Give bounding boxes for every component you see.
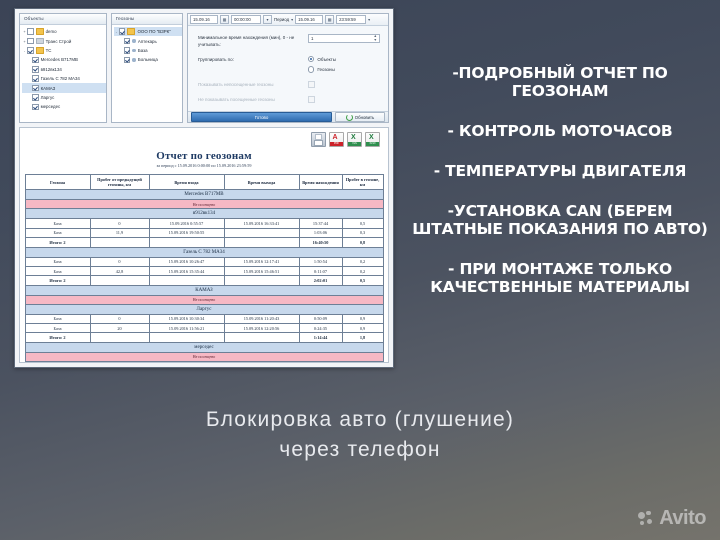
report-table-head: ГеозонаПробег от предыдущей геозоны, кмВ… <box>25 175 383 190</box>
tree-node-label: ООО ПО "ВЗРК" <box>137 29 170 34</box>
cell-6: 0,2 <box>342 257 383 266</box>
tree-node-label: в912вк134 <box>41 67 62 72</box>
pdf-glyph: A <box>333 134 338 141</box>
folder-icon <box>36 28 44 35</box>
geozones-tree-node-3[interactable]: Больница <box>114 55 182 64</box>
period-label: Период <box>274 17 289 22</box>
cell-2: 11,9 <box>90 228 149 237</box>
cell-2: 42,8 <box>90 266 149 275</box>
total-cell-1: Итого: 2 <box>25 333 90 342</box>
not-visited-row: Не посещено <box>25 295 383 304</box>
show-unvisited-row: Показывать непосещенные геозоны <box>198 81 380 88</box>
geozones-tree-node-1[interactable]: Аптекарь <box>114 36 182 45</box>
report-subtitle: за период с 15.09.2016 0:00:00 по 15.09.… <box>20 162 388 168</box>
geozones-panel-header: Геозоны <box>112 14 182 25</box>
objects-tree-node-0[interactable]: +demo <box>22 27 106 36</box>
min-time-stepper[interactable]: 1 ▲▼ <box>308 34 380 43</box>
total-row: Итого: 22:02:010,5 <box>25 276 383 285</box>
checkbox-icon[interactable] <box>32 75 39 82</box>
ready-button[interactable]: Готово <box>191 112 332 122</box>
not-visited-row: Не посещено <box>25 200 383 209</box>
group-name: мерседес <box>25 342 383 352</box>
hide-visited-row: Не показывать посещенные геозоны <box>198 96 380 103</box>
total-cell-5: 2:02:01 <box>299 276 342 285</box>
total-cell-5: 16:40:50 <box>299 238 342 247</box>
column-header-4: Время выхода <box>224 175 299 190</box>
min-time-value: 1 <box>311 36 313 41</box>
bottom-headline-line1: Блокировка авто (глушение) <box>0 405 720 435</box>
time-from-input[interactable]: 00:00:00 <box>231 15 261 24</box>
table-row: База015.09.2016 10:26:4715.09.2016 12:17… <box>25 257 383 266</box>
period-dropdown-icon[interactable]: ▾ <box>291 17 293 22</box>
cell-1: База <box>25 219 90 228</box>
min-time-label: Минимальное время нахождения (мин), 0 - … <box>198 34 308 48</box>
cell-3: 15.09.2016 11:56:21 <box>149 324 224 333</box>
stepper-arrows-icon[interactable]: ▲▼ <box>373 35 377 42</box>
geozone-icon <box>132 49 135 52</box>
checkbox-icon[interactable] <box>27 28 34 35</box>
xls-icon[interactable]: X XLS <box>347 132 362 147</box>
objects-tree-node-2[interactable]: -ТС <box>22 46 106 55</box>
chevron-down-icon[interactable]: ▾ <box>263 15 272 24</box>
bottom-headline-line2: через телефон <box>0 435 720 465</box>
cell-3: 15.09.2016 10:26:47 <box>149 257 224 266</box>
total-cell-2 <box>90 333 149 342</box>
tree-node-label: Транс Строй <box>46 39 72 44</box>
total-cell-4 <box>224 276 299 285</box>
cell-1: База <box>25 257 90 266</box>
radio-objects[interactable]: Объекты <box>308 56 336 62</box>
calendar-icon-2[interactable]: ▦ <box>325 15 334 24</box>
cell-4 <box>224 228 299 237</box>
objects-tree-node-3[interactable]: Mercedes B717MB <box>22 55 106 64</box>
avito-logo-icon <box>638 511 655 527</box>
not-visited-row: Не посещено <box>25 352 383 361</box>
total-cell-4 <box>224 238 299 247</box>
objects-tree[interactable]: +demo+Транс Строй-ТСMercedes B717MBв912в… <box>20 25 106 112</box>
total-row: Итого: 21:14:441,8 <box>25 333 383 342</box>
column-header-5: Время нахождения <box>299 175 342 190</box>
export-toolbar[interactable]: A PDF X XLS X XLSX <box>311 132 380 147</box>
hide-visited-label: Не показывать посещенные геозоны <box>198 96 308 103</box>
printer-icon[interactable] <box>311 132 326 147</box>
cell-2: 20 <box>90 324 149 333</box>
report-header-row: ГеозонаПробег от предыдущей геозоны, кмВ… <box>25 175 383 190</box>
time-to-dropdown-icon[interactable]: ▾ <box>368 17 370 22</box>
radio-geozones-label: Геозоны <box>317 67 334 72</box>
group-name: Газель С 782 МА34 <box>25 247 383 257</box>
total-cell-3 <box>149 238 224 247</box>
cell-1: База <box>25 228 90 237</box>
date-from-input[interactable]: 15.09.16 <box>190 15 218 24</box>
group-by-label: Группировать по: <box>198 56 308 63</box>
tree-node-label: КАМАЗ <box>41 86 56 91</box>
avito-logo-text: Avito <box>659 507 706 530</box>
show-unvisited-label: Показывать непосещенные геозоны <box>198 81 308 88</box>
pdf-label: PDF <box>330 142 343 146</box>
report-area: A PDF X XLS X XLSX Отчет по геозонам за … <box>19 127 389 363</box>
xlsx-label: XLSX <box>366 142 379 146</box>
cell-3: 15.09.2016 0:55:57 <box>149 219 224 228</box>
feature-bullet-1: -Подробный отчет по геозонам <box>404 64 716 100</box>
objects-tree-node-1[interactable]: +Транс Строй <box>22 36 106 45</box>
checkbox-icon[interactable] <box>124 57 131 64</box>
objects-panel[interactable]: Объекты +demo+Транс Строй-ТСMercedes B71… <box>19 13 107 123</box>
group-row: Mercedes B717MB <box>25 190 383 200</box>
cell-5: 1:03:06 <box>299 228 342 237</box>
folder-icon <box>127 28 135 35</box>
tree-node-label: Газель С 782 МА34 <box>41 76 80 81</box>
column-header-1: Геозона <box>25 175 90 190</box>
tree-node-label: Mercedes B717MB <box>41 57 78 62</box>
total-cell-5: 1:14:44 <box>299 333 342 342</box>
total-cell-6: 0,5 <box>342 276 383 285</box>
column-header-3: Время входа <box>149 175 224 190</box>
folder-icon <box>36 47 44 54</box>
cell-4: 15.09.2016 12:20:56 <box>224 324 299 333</box>
feature-bullet-5: - При монтаже только качественные матери… <box>404 260 716 296</box>
cell-5: 15:37:44 <box>299 219 342 228</box>
radio-objects-label: Объекты <box>317 57 336 62</box>
radio-objects-indicator <box>308 56 314 62</box>
tree-node-label: ТС <box>46 48 52 53</box>
group-name: в912вк134 <box>25 209 383 219</box>
time-to-input[interactable]: 23:59:59 <box>336 15 366 24</box>
checkbox-icon[interactable] <box>32 104 39 111</box>
group-name: Ларгус <box>25 304 383 314</box>
group-row: в912вк134 <box>25 209 383 219</box>
cell-5: 0:11:07 <box>299 266 342 275</box>
radio-geozones-indicator <box>308 66 314 72</box>
total-cell-1: Итого: 2 <box>25 238 90 247</box>
group-by-row: Группировать по: Объекты Геозоны <box>198 56 380 73</box>
geozones-tree-node-2[interactable]: База <box>114 46 182 55</box>
cell-1: База <box>25 266 90 275</box>
group-row: КАМАЗ <box>25 285 383 295</box>
column-header-2: Пробег от предыдущей геозоны, км <box>90 175 149 190</box>
table-row: База2015.09.2016 11:56:2115.09.2016 12:2… <box>25 324 383 333</box>
geozones-tree[interactable]: -ООО ПО "ВЗРК"АптекарьБазаБольница <box>112 25 182 65</box>
not-visited-label: Не посещено <box>25 295 383 304</box>
total-cell-3 <box>149 333 224 342</box>
cell-5: 1:50:54 <box>299 257 342 266</box>
refresh-button-label: Обновить <box>355 115 374 120</box>
group-name: Mercedes B717MB <box>25 190 383 200</box>
xls-label: XLS <box>348 142 361 146</box>
group-row: Ларгус <box>25 304 383 314</box>
avito-watermark: Avito <box>638 507 706 530</box>
checkbox-icon[interactable] <box>32 57 39 64</box>
tree-node-label: Больница <box>138 57 158 62</box>
cell-1: База <box>25 314 90 323</box>
cell-1: База <box>25 324 90 333</box>
total-cell-6: 1,8 <box>342 333 383 342</box>
cell-3: 15.09.2016 15:35:44 <box>149 266 224 275</box>
total-cell-6: 0,8 <box>342 238 383 247</box>
group-row: мерседес <box>25 342 383 352</box>
xlsx-icon[interactable]: X XLSX <box>365 132 380 147</box>
table-row: База015.09.2016 0:55:5715.09.2016 16:33:… <box>25 219 383 228</box>
checkbox-icon[interactable] <box>124 47 131 54</box>
cell-3: 15.09.2016 19:50:55 <box>149 228 224 237</box>
report-settings-panel: 15.09.16 ▦ 00:00:00 ▾ Период ▾ 15.09.16 … <box>187 13 389 123</box>
not-visited-label: Не посещено <box>25 200 383 209</box>
feature-bullet-2: - Контроль моточасов <box>404 122 716 140</box>
cell-6: 0,2 <box>342 266 383 275</box>
total-cell-4 <box>224 333 299 342</box>
radio-geozones[interactable]: Геозоны <box>308 66 336 72</box>
group-name: КАМАЗ <box>25 285 383 295</box>
checkbox-icon[interactable] <box>119 28 126 35</box>
checkbox-icon[interactable] <box>124 38 131 45</box>
total-row: Итого: 216:40:500,8 <box>25 238 383 247</box>
group-by-radios[interactable]: Объекты Геозоны <box>308 56 336 73</box>
checkbox-icon[interactable] <box>27 47 34 54</box>
tree-node-label: База <box>138 48 148 53</box>
cell-6: 0,9 <box>342 324 383 333</box>
xlsx-glyph: X <box>369 134 374 142</box>
xls-glyph: X <box>351 134 356 142</box>
cell-3: 15.09.2016 10:30:34 <box>149 314 224 323</box>
cell-4: 15.09.2016 16:33:41 <box>224 219 299 228</box>
cell-4: 15.09.2016 15:46:51 <box>224 266 299 275</box>
feature-bullet-4: -Установка CAN (берем штатные показания … <box>404 202 716 238</box>
refresh-button[interactable]: Обновить <box>335 112 385 122</box>
options-area: Минимальное время нахождения (мин), 0 - … <box>188 26 388 103</box>
objects-panel-header: Объекты <box>20 14 106 25</box>
geozone-icon <box>132 39 135 42</box>
total-cell-1: Итого: 2 <box>25 276 90 285</box>
objects-tree-node-4[interactable]: в912вк134 <box>22 65 106 74</box>
show-unvisited-checkbox <box>308 81 315 88</box>
geozone-report-table: ГеозонаПробег от предыдущей геозоны, кмВ… <box>25 174 384 362</box>
cell-4: 15.09.2016 12:17:41 <box>224 257 299 266</box>
calendar-icon[interactable]: ▦ <box>220 15 229 24</box>
total-cell-2 <box>90 238 149 247</box>
column-header-6: Пробег в геозоне, км <box>342 175 383 190</box>
checkbox-icon[interactable] <box>32 94 39 101</box>
feature-bullet-3: - Температуры двигателя <box>404 162 716 180</box>
total-cell-2 <box>90 276 149 285</box>
tree-node-label: мерседес <box>41 104 61 109</box>
objects-tree-node-8[interactable]: мерседес <box>22 102 106 111</box>
checkbox-icon[interactable] <box>27 38 34 45</box>
checkbox-icon[interactable] <box>32 85 39 92</box>
refresh-icon <box>346 114 353 121</box>
slide-canvas: Объекты +demo+Транс Строй-ТСMercedes B71… <box>0 0 720 540</box>
top-panes: Объекты +demo+Транс Строй-ТСMercedes B71… <box>19 13 389 123</box>
cell-6: 0,5 <box>342 219 383 228</box>
group-row: Газель С 782 МА34 <box>25 247 383 257</box>
geozones-tree-node-0[interactable]: -ООО ПО "ВЗРК" <box>114 27 182 36</box>
folder-icon <box>36 38 44 45</box>
cell-6: 0,9 <box>342 314 383 323</box>
objects-tree-node-6[interactable]: КАМАЗ <box>22 83 106 92</box>
cell-4: 15.09.2016 11:20:43 <box>224 314 299 323</box>
table-row: База11,915.09.2016 19:50:551:03:060,3 <box>25 228 383 237</box>
objects-tree-node-7[interactable]: Ларгус <box>22 93 106 102</box>
table-row: База015.09.2016 10:30:3415.09.2016 11:20… <box>25 314 383 323</box>
objects-tree-node-5[interactable]: Газель С 782 МА34 <box>22 74 106 83</box>
report-table-body: Mercedes B717MBНе посещенов912вк134База0… <box>25 190 383 361</box>
settings-button-bar: Готово Обновить <box>188 111 388 122</box>
bottom-headline: Блокировка авто (глушение) через телефон <box>0 405 720 465</box>
geozones-panel[interactable]: Геозоны -ООО ПО "ВЗРК"АптекарьБазаБольни… <box>111 13 183 123</box>
cell-5: 0:50:09 <box>299 314 342 323</box>
cell-6: 0,3 <box>342 228 383 237</box>
cell-2: 0 <box>90 219 149 228</box>
total-cell-3 <box>149 276 224 285</box>
tree-node-label: Аптекарь <box>138 39 157 44</box>
date-to-input[interactable]: 15.09.16 <box>295 15 323 24</box>
tree-node-label: demo <box>46 29 57 34</box>
min-time-row: Минимальное время нахождения (мин), 0 - … <box>198 34 380 48</box>
pdf-icon[interactable]: A PDF <box>329 132 344 147</box>
checkbox-icon[interactable] <box>32 66 39 73</box>
cell-2: 0 <box>90 314 149 323</box>
not-visited-label: Не посещено <box>25 352 383 361</box>
table-row: База42,815.09.2016 15:35:4415.09.2016 15… <box>25 266 383 275</box>
tree-node-label: Ларгус <box>41 95 55 100</box>
feature-bullets: -Подробный отчет по геозонам- Контроль м… <box>404 64 716 296</box>
cell-2: 0 <box>90 257 149 266</box>
period-toolbar: 15.09.16 ▦ 00:00:00 ▾ Период ▾ 15.09.16 … <box>188 14 388 26</box>
geozone-icon <box>132 58 135 61</box>
hide-visited-checkbox <box>308 96 315 103</box>
cell-5: 0:24:35 <box>299 324 342 333</box>
tracking-app-window: Объекты +demo+Транс Строй-ТСMercedes B71… <box>14 8 394 368</box>
